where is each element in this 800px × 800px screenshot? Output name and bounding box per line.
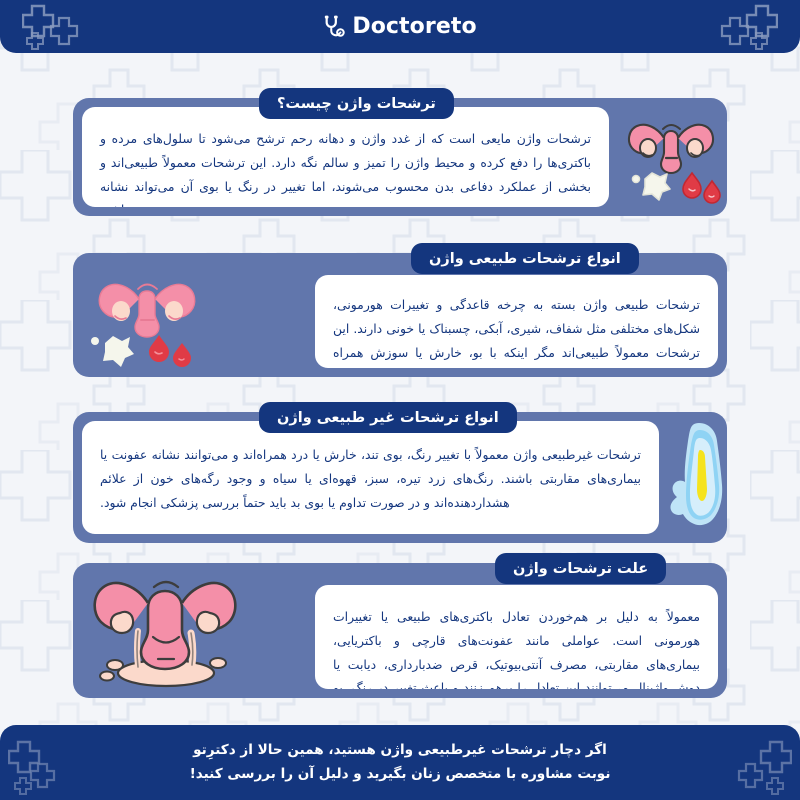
card-abnormal-types-body: ترشحات غیرطبیعی واژن معمولاً با تغییر رن… xyxy=(100,443,641,514)
brand-logo[interactable]: Doctoreto xyxy=(323,14,476,39)
card-causes-title: علت ترشحات واژن xyxy=(495,553,666,584)
uterus-dripping-icon xyxy=(91,565,241,695)
sanitary-pad-icon xyxy=(669,420,729,538)
card-abnormal-types: ترشحات غیرطبیعی واژن معمولاً با تغییر رن… xyxy=(73,412,727,543)
card-what-is-title: ترشحات واژن چیست؟ xyxy=(259,88,454,119)
card-causes: معمولاً به دلیل بر هم‌خوردن تعادل باکتری… xyxy=(73,563,727,698)
uterus-discharge-blood-icon xyxy=(619,101,724,213)
footer-cta-line-2: نوبت مشاوره با متخصص زنان بگیرید و دلیل … xyxy=(190,763,611,787)
footer-cross-decoration-right xyxy=(736,740,792,796)
stethoscope-icon xyxy=(323,15,345,39)
infographic-page: Doctoreto ترشحات واژن مایعی است که از غد… xyxy=(0,0,800,800)
header-cross-decoration-right xyxy=(708,4,778,50)
card-what-is: ترشحات واژن مایعی است که از غدد واژن و د… xyxy=(73,98,727,216)
footer-cross-decoration-left xyxy=(8,740,64,796)
card-normal-types-title: انواع ترشحات طبیعی واژن xyxy=(411,243,639,274)
card-normal-types: ترشحات طبیعی واژن بسته به چرخه قاعدگی و … xyxy=(73,253,727,377)
footer-cta-line-1: اگر دچار ترشحات غیرطبیعی واژن هستید، همی… xyxy=(190,739,611,763)
card-abnormal-types-panel: ترشحات غیرطبیعی واژن معمولاً با تغییر رن… xyxy=(82,421,659,534)
card-normal-types-body: ترشحات طبیعی واژن بسته به چرخه قاعدگی و … xyxy=(333,293,700,368)
card-abnormal-types-title: انواع ترشحات غیر طبیعی واژن xyxy=(259,402,517,433)
header-cross-decoration-left xyxy=(22,4,92,50)
card-what-is-panel: ترشحات واژن مایعی است که از غدد واژن و د… xyxy=(82,107,609,207)
card-causes-panel: معمولاً به دلیل بر هم‌خوردن تعادل باکتری… xyxy=(315,585,718,689)
page-header: Doctoreto xyxy=(0,0,800,53)
footer-cta-text: اگر دچار ترشحات غیرطبیعی واژن هستید، همی… xyxy=(190,739,611,787)
card-normal-types-panel: ترشحات طبیعی واژن بسته به چرخه قاعدگی و … xyxy=(315,275,718,368)
page-footer: اگر دچار ترشحات غیرطبیعی واژن هستید، همی… xyxy=(0,725,800,800)
uterus-discharge-blood-icon xyxy=(89,257,207,373)
card-causes-body: معمولاً به دلیل بر هم‌خوردن تعادل باکتری… xyxy=(333,605,700,689)
card-what-is-body: ترشحات واژن مایعی است که از غدد واژن و د… xyxy=(100,127,591,207)
brand-name: Doctoreto xyxy=(352,14,476,39)
